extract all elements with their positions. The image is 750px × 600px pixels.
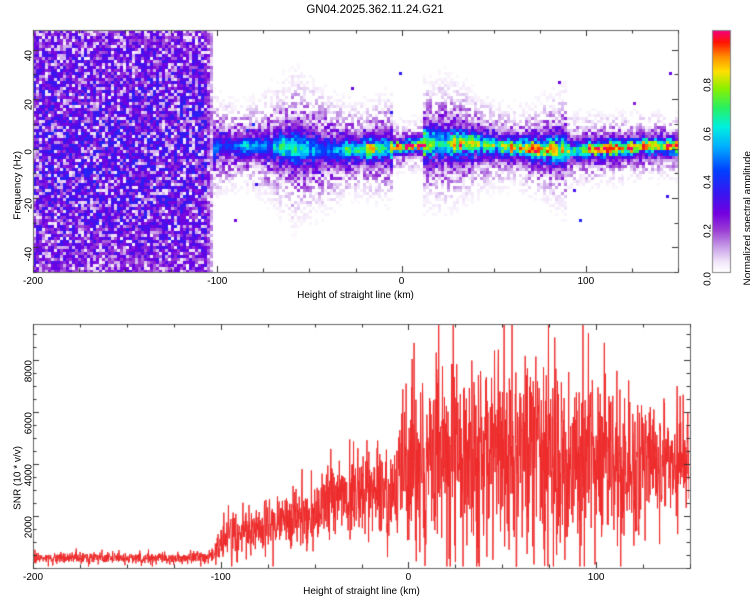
spectrogram-ytick-3: 20 <box>24 99 35 110</box>
snr-ytick-0: 2000 <box>24 516 35 538</box>
snr-ytick-1: 4000 <box>24 464 35 486</box>
spectrogram-ytick-0: -40 <box>24 247 35 261</box>
snr-xtick-1: -100 <box>211 572 231 583</box>
spectrogram-xtick-1: -100 <box>207 276 227 287</box>
spectrogram-xtick-3: 100 <box>578 276 595 287</box>
spectrogram-ytick-1: -20 <box>24 198 35 212</box>
spectrogram-xtick-2: 0 <box>399 276 405 287</box>
spectrogram-ytick-4: 40 <box>24 50 35 61</box>
spectrogram-xtick-0: -200 <box>23 276 43 287</box>
colorbar-tick-0: 0.0 <box>703 272 714 286</box>
spectrogram-ytick-2: 0 <box>24 149 35 155</box>
figure-title: GN04.2025.362.11.24.G21 <box>0 4 750 16</box>
snr-xtick-3: 100 <box>588 572 605 583</box>
colorbar-tick-2: 0.4 <box>703 175 714 189</box>
spectrogram-y-axis-label: Frequency (Hz) <box>13 151 24 220</box>
spectrogram-x-axis-label: Height of straight line (km) <box>297 290 414 301</box>
snr-xtick-2: 0 <box>406 572 412 583</box>
colorbar-axis-label: Normalized spectral amplitude <box>743 151 750 286</box>
snr-x-axis-label: Height of straight line (km) <box>303 586 420 597</box>
snr-ytick-3: 8000 <box>24 360 35 382</box>
colorbar-tick-1: 0.2 <box>703 224 714 238</box>
colorbar-tick-4: 0.8 <box>703 78 714 92</box>
snr-ytick-2: 6000 <box>24 412 35 434</box>
colorbar-tick-3: 0.6 <box>703 127 714 141</box>
figure-root: GN04.2025.362.11.24.G21 Frequency (Hz) H… <box>0 0 750 600</box>
snr-xtick-0: -200 <box>23 572 43 583</box>
snr-y-axis-label: SNR (10 * v/v) <box>13 446 24 510</box>
